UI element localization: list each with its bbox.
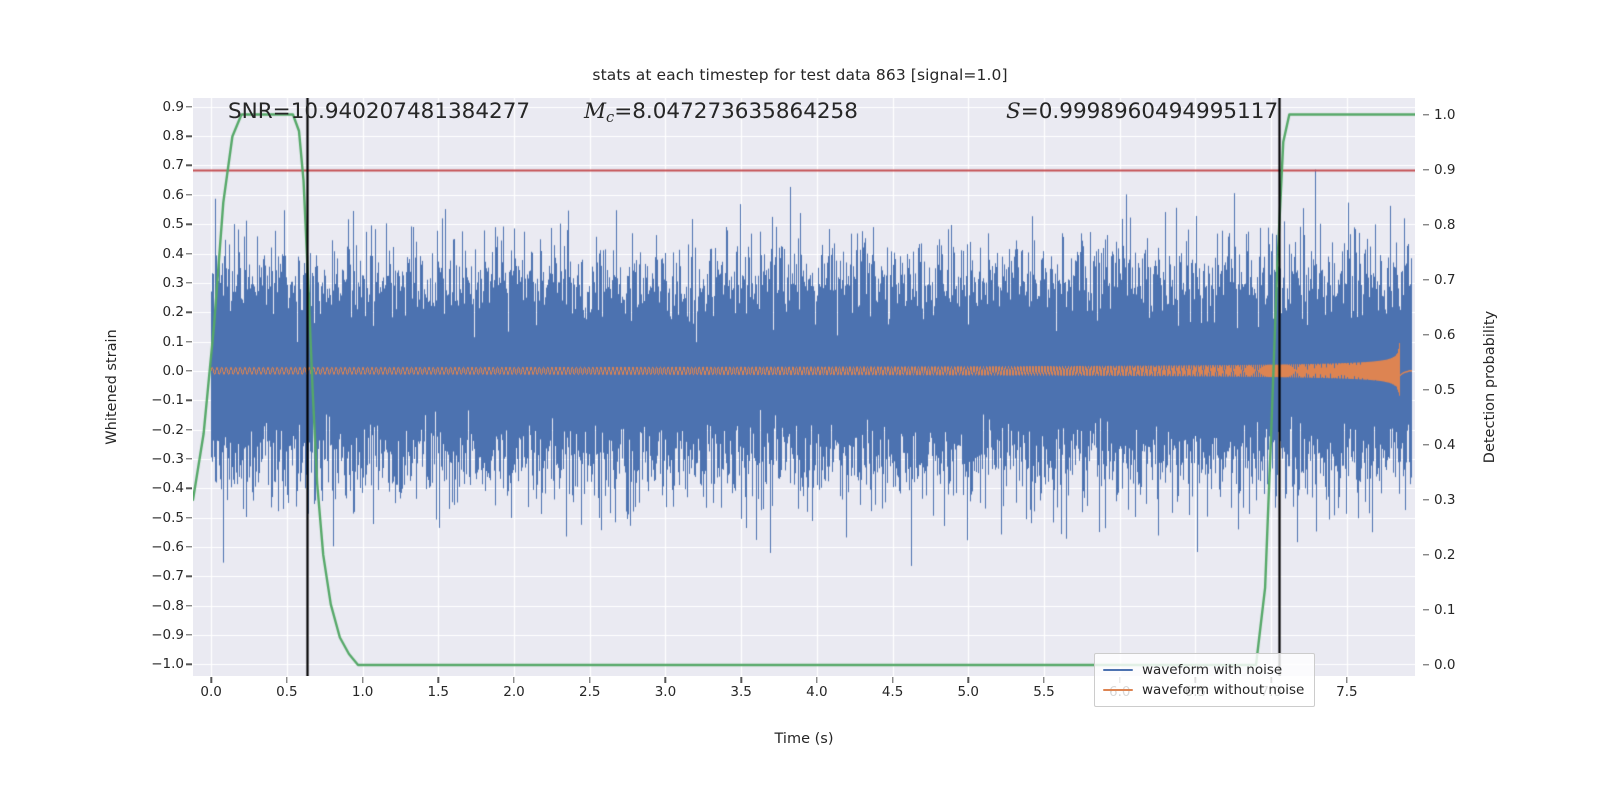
annotation-snr-label: SNR= (228, 99, 291, 124)
y-tick-mark-left (186, 370, 192, 371)
y-tick-mark-right (1423, 224, 1429, 225)
y-tick-label-left: 0.8 (163, 128, 184, 144)
y-tick-mark-right (1423, 609, 1429, 610)
x-tick-label: 4.0 (806, 684, 827, 700)
legend-color-swatch (1103, 689, 1133, 692)
y-tick-label-left: −0.3 (151, 451, 184, 467)
y-tick-label-left: 0.1 (163, 334, 184, 350)
x-tick-mark (438, 677, 439, 683)
y-tick-mark-left (186, 135, 192, 136)
chart-title: stats at each timestep for test data 863… (0, 66, 1600, 84)
annotation-signal-score: S=0.9998960494995117 (1006, 99, 1278, 124)
y-axis-label-right: Detection probability (1482, 311, 1498, 463)
x-tick-label: 3.5 (730, 684, 751, 700)
legend-color-swatch (1103, 669, 1133, 672)
y-tick-mark-left (186, 223, 192, 224)
y-tick-mark-left (186, 605, 192, 606)
x-tick-label: 5.5 (1033, 684, 1054, 700)
matplotlib-figure: stats at each timestep for test data 863… (0, 0, 1600, 800)
x-tick-mark (362, 677, 363, 683)
y-tick-mark-left (186, 106, 192, 107)
y-tick-label-left: 0.2 (163, 304, 184, 320)
x-tick-label: 5.0 (958, 684, 979, 700)
y-tick-label-right: 0.8 (1434, 217, 1455, 233)
y-tick-mark-left (186, 311, 192, 312)
legend: waveform with noisewaveform without nois… (1094, 653, 1315, 707)
x-axis-label: Time (s) (775, 731, 834, 747)
y-tick-mark-left (186, 517, 192, 518)
x-tick-mark (1346, 677, 1347, 683)
x-tick-mark (968, 677, 969, 683)
y-tick-label-left: −0.1 (151, 392, 184, 408)
y-tick-mark-right (1423, 444, 1429, 445)
x-tick-mark (1043, 677, 1044, 683)
y-tick-mark-left (186, 576, 192, 577)
y-tick-mark-left (186, 458, 192, 459)
annotation-mc-symbol: M (584, 99, 606, 124)
y-tick-label-left: 0.4 (163, 246, 184, 262)
y-tick-label-left: −1.0 (151, 656, 184, 672)
annotation-snr: SNR=10.940207481384277 (228, 99, 530, 124)
x-tick-mark (513, 677, 514, 683)
y-tick-mark-right (1423, 334, 1429, 335)
y-tick-label-left: 0.7 (163, 157, 184, 173)
y-tick-label-right: 0.5 (1434, 382, 1455, 398)
plot-area (193, 98, 1415, 676)
x-tick-label: 2.5 (579, 684, 600, 700)
y-tick-mark-left (186, 341, 192, 342)
y-tick-mark-left (186, 165, 192, 166)
x-tick-mark (740, 677, 741, 683)
legend-item-label: waveform with noise (1142, 662, 1282, 678)
x-tick-label: 3.0 (655, 684, 676, 700)
y-tick-label-left: −0.8 (151, 598, 184, 614)
y-tick-label-left: 0.0 (163, 363, 184, 379)
y-tick-mark-left (186, 399, 192, 400)
legend-item-label: waveform without noise (1142, 682, 1304, 698)
y-tick-label-right: 0.2 (1434, 547, 1455, 563)
y-tick-label-right: 1.0 (1434, 107, 1455, 123)
y-tick-label-left: −0.4 (151, 480, 184, 496)
legend-item[interactable]: waveform without noise (1103, 680, 1304, 700)
y-tick-label-left: −0.2 (151, 422, 184, 438)
y-tick-mark-left (186, 634, 192, 635)
annotation-chirp-mass: Mc=8.047273635864258 (584, 99, 858, 126)
y-tick-mark-left (186, 664, 192, 665)
y-axis-label-left: Whitened strain (104, 329, 120, 444)
y-tick-mark-left (186, 253, 192, 254)
x-tick-label: 0.0 (200, 684, 221, 700)
x-tick-label: 1.0 (352, 684, 373, 700)
x-tick-mark (210, 677, 211, 683)
y-tick-label-right: 0.4 (1434, 437, 1455, 453)
y-tick-mark-right (1423, 389, 1429, 390)
x-tick-label: 1.5 (428, 684, 449, 700)
y-tick-label-right: 0.1 (1434, 602, 1455, 618)
x-tick-mark (892, 677, 893, 683)
y-tick-mark-left (186, 546, 192, 547)
y-tick-label-left: 0.3 (163, 275, 184, 291)
y-tick-label-right: 0.0 (1434, 657, 1455, 673)
y-tick-label-left: 0.6 (163, 187, 184, 203)
x-tick-mark (589, 677, 590, 683)
annotation-s-equals: = (1021, 99, 1039, 124)
annotation-s-symbol: S (1006, 99, 1021, 124)
y-tick-label-right: 0.3 (1434, 492, 1455, 508)
y-tick-mark-right (1423, 169, 1429, 170)
annotation-mc-value: 8.047273635864258 (632, 99, 858, 124)
annotation-snr-value: 10.940207481384277 (291, 99, 530, 124)
y-tick-label-left: 0.5 (163, 216, 184, 232)
y-tick-label-right: 0.9 (1434, 162, 1455, 178)
annotation-mc-equals: = (614, 99, 632, 124)
x-tick-label: 7.5 (1336, 684, 1357, 700)
y-tick-mark-right (1423, 499, 1429, 500)
y-tick-label-left: −0.7 (151, 568, 184, 584)
y-tick-mark-left (186, 282, 192, 283)
annotation-s-value: 0.9998960494995117 (1039, 99, 1278, 124)
x-tick-mark (816, 677, 817, 683)
x-tick-mark (286, 677, 287, 683)
y-tick-label-left: −0.5 (151, 510, 184, 526)
legend-item[interactable]: waveform with noise (1103, 660, 1304, 680)
y-tick-label-left: 0.9 (163, 99, 184, 115)
x-tick-mark (665, 677, 666, 683)
annotation-mc-subscript: c (606, 109, 614, 126)
y-tick-mark-right (1423, 664, 1429, 665)
y-tick-mark-left (186, 429, 192, 430)
y-tick-mark-left (186, 194, 192, 195)
y-tick-mark-right (1423, 554, 1429, 555)
y-tick-label-left: −0.9 (151, 627, 184, 643)
y-tick-mark-left (186, 488, 192, 489)
x-tick-label: 0.5 (276, 684, 297, 700)
y-tick-mark-right (1423, 114, 1429, 115)
y-tick-mark-right (1423, 279, 1429, 280)
x-tick-label: 4.5 (882, 684, 903, 700)
y-tick-label-right: 0.7 (1434, 272, 1455, 288)
plot-canvas (193, 98, 1415, 676)
x-tick-label: 2.0 (503, 684, 524, 700)
y-tick-label-right: 0.6 (1434, 327, 1455, 343)
y-tick-label-left: −0.6 (151, 539, 184, 555)
